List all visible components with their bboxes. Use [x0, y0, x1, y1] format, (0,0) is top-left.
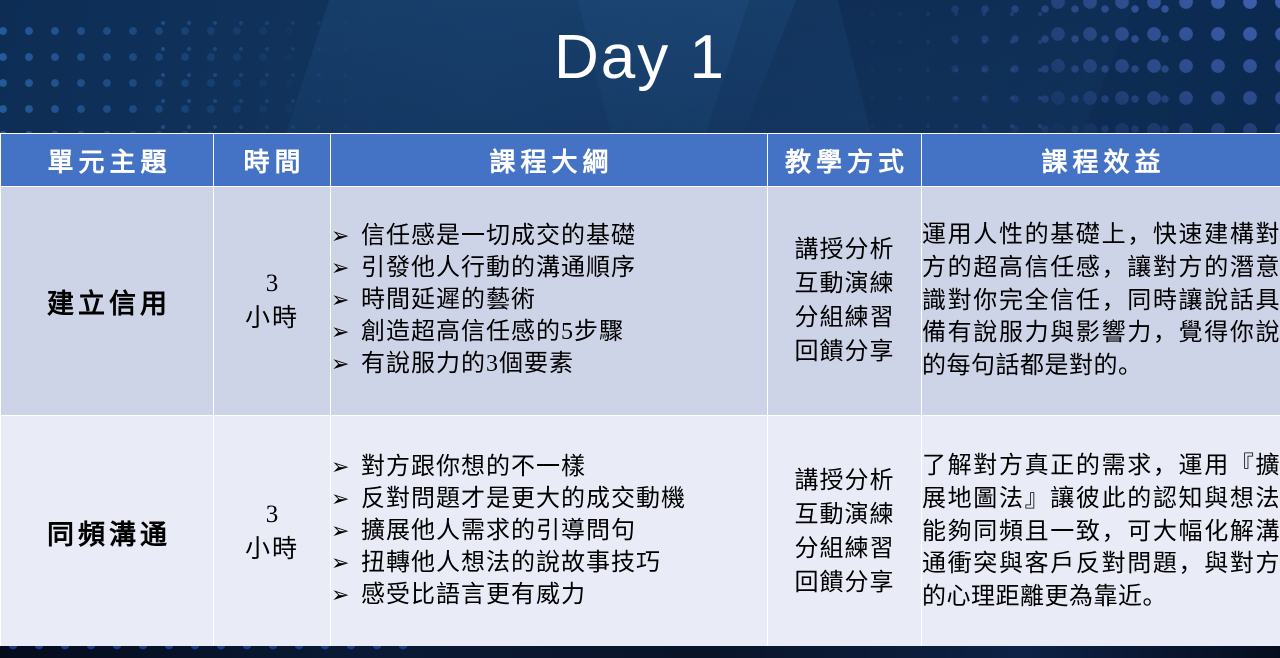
method-line: 講授分析 — [768, 233, 921, 267]
arrow-bullet-icon: ➢ — [331, 453, 361, 482]
method-line: 回饋分享 — [768, 566, 921, 600]
table-header-row: 單元主題 時間 課程大綱 教學方式 課程效益 — [1, 134, 1280, 187]
list-item-label: 時間延遲的藝術 — [361, 285, 536, 317]
slide-bottom-background — [0, 646, 1280, 658]
arrow-bullet-icon: ➢ — [331, 549, 361, 578]
time-number: 3 — [214, 266, 330, 302]
cell-time: 3 小時 — [214, 187, 331, 416]
method-line: 分組練習 — [768, 532, 921, 566]
list-item-label: 感受比語言更有威力 — [361, 580, 586, 612]
arrow-bullet-icon: ➢ — [331, 254, 361, 283]
cell-benefit: 運用人性的基礎上，快速建構對方的超高信任感，讓對方的潛意識對你完全信任，同時讓說… — [922, 187, 1280, 416]
list-item: ➢有說服力的3個要素 — [331, 349, 767, 381]
arrow-bullet-icon: ➢ — [331, 517, 361, 546]
cell-outline: ➢對方跟你想的不一樣 ➢反對問題才是更大的成交動機 ➢擴展他人需求的引導問句 ➢… — [331, 416, 768, 649]
list-item: ➢時間延遲的藝術 — [331, 285, 767, 317]
time-unit: 小時 — [214, 301, 330, 337]
arrow-bullet-icon: ➢ — [331, 581, 361, 610]
method-line: 回饋分享 — [768, 335, 921, 369]
time-unit: 小時 — [214, 532, 330, 568]
table-body: 建立信用 3 小時 ➢信任感是一切成交的基礎 ➢引發他人行動的溝通順序 ➢時間延… — [1, 187, 1280, 649]
cell-topic: 建立信用 — [1, 187, 214, 416]
cell-time: 3 小時 — [214, 416, 331, 649]
method-line: 互動演練 — [768, 498, 921, 532]
arrow-bullet-icon: ➢ — [331, 318, 361, 347]
list-item-label: 扭轉他人想法的說故事技巧 — [361, 548, 661, 580]
list-item: ➢引發他人行動的溝通順序 — [331, 253, 767, 285]
outline-list: ➢信任感是一切成交的基礎 ➢引發他人行動的溝通順序 ➢時間延遲的藝術 ➢創造超高… — [331, 221, 767, 381]
cell-method: 講授分析 互動演練 分組練習 回饋分享 — [768, 416, 922, 649]
arrow-bullet-icon: ➢ — [331, 350, 361, 379]
list-item: ➢信任感是一切成交的基礎 — [331, 221, 767, 253]
method-line: 講授分析 — [768, 464, 921, 498]
table-row: 同頻溝通 3 小時 ➢對方跟你想的不一樣 ➢反對問題才是更大的成交動機 ➢擴展他… — [1, 416, 1280, 649]
page-title: Day 1 — [0, 22, 1280, 93]
list-item-label: 對方跟你想的不一樣 — [361, 452, 586, 484]
table-header: 單元主題 時間 課程大綱 教學方式 課程效益 — [1, 134, 1280, 187]
list-item: ➢對方跟你想的不一樣 — [331, 452, 767, 484]
list-item: ➢反對問題才是更大的成交動機 — [331, 484, 767, 516]
column-header-outline: 課程大綱 — [331, 134, 768, 187]
arrow-bullet-icon: ➢ — [331, 485, 361, 514]
list-item-label: 反對問題才是更大的成交動機 — [361, 484, 686, 516]
column-header-method: 教學方式 — [768, 134, 922, 187]
list-item-label: 有說服力的3個要素 — [361, 349, 574, 381]
column-header-benefit: 課程效益 — [922, 134, 1280, 187]
cell-benefit: 了解對方真正的需求，運用『擴展地圖法』讓彼此的認知與想法能夠同頻且一致，可大幅化… — [922, 416, 1280, 649]
time-number: 3 — [214, 497, 330, 533]
list-item: ➢感受比語言更有威力 — [331, 580, 767, 612]
course-schedule-table: 單元主題 時間 課程大綱 教學方式 課程效益 建立信用 3 小時 ➢信任感是一切… — [0, 133, 1280, 649]
column-header-topic: 單元主題 — [1, 134, 214, 187]
polka-dot-pattern-bottom-icon — [0, 646, 420, 658]
column-header-time: 時間 — [214, 134, 331, 187]
list-item: ➢扭轉他人想法的說故事技巧 — [331, 548, 767, 580]
list-item-label: 創造超高信任感的5步驟 — [361, 317, 624, 349]
list-item-label: 擴展他人需求的引導問句 — [361, 516, 636, 548]
table-row: 建立信用 3 小時 ➢信任感是一切成交的基礎 ➢引發他人行動的溝通順序 ➢時間延… — [1, 187, 1280, 416]
outline-list: ➢對方跟你想的不一樣 ➢反對問題才是更大的成交動機 ➢擴展他人需求的引導問句 ➢… — [331, 452, 767, 612]
cell-outline: ➢信任感是一切成交的基礎 ➢引發他人行動的溝通順序 ➢時間延遲的藝術 ➢創造超高… — [331, 187, 768, 416]
cell-topic: 同頻溝通 — [1, 416, 214, 649]
arrow-bullet-icon: ➢ — [331, 286, 361, 315]
list-item: ➢創造超高信任感的5步驟 — [331, 317, 767, 349]
slide-day-1: Day 1 單元主題 時間 課程大綱 教學方式 課程效益 建立信用 3 小時 — [0, 0, 1280, 658]
list-item-label: 信任感是一切成交的基礎 — [361, 221, 636, 253]
method-line: 分組練習 — [768, 301, 921, 335]
list-item-label: 引發他人行動的溝通順序 — [361, 253, 636, 285]
cell-method: 講授分析 互動演練 分組練習 回饋分享 — [768, 187, 922, 416]
arrow-bullet-icon: ➢ — [331, 222, 361, 251]
list-item: ➢擴展他人需求的引導問句 — [331, 516, 767, 548]
method-line: 互動演練 — [768, 267, 921, 301]
